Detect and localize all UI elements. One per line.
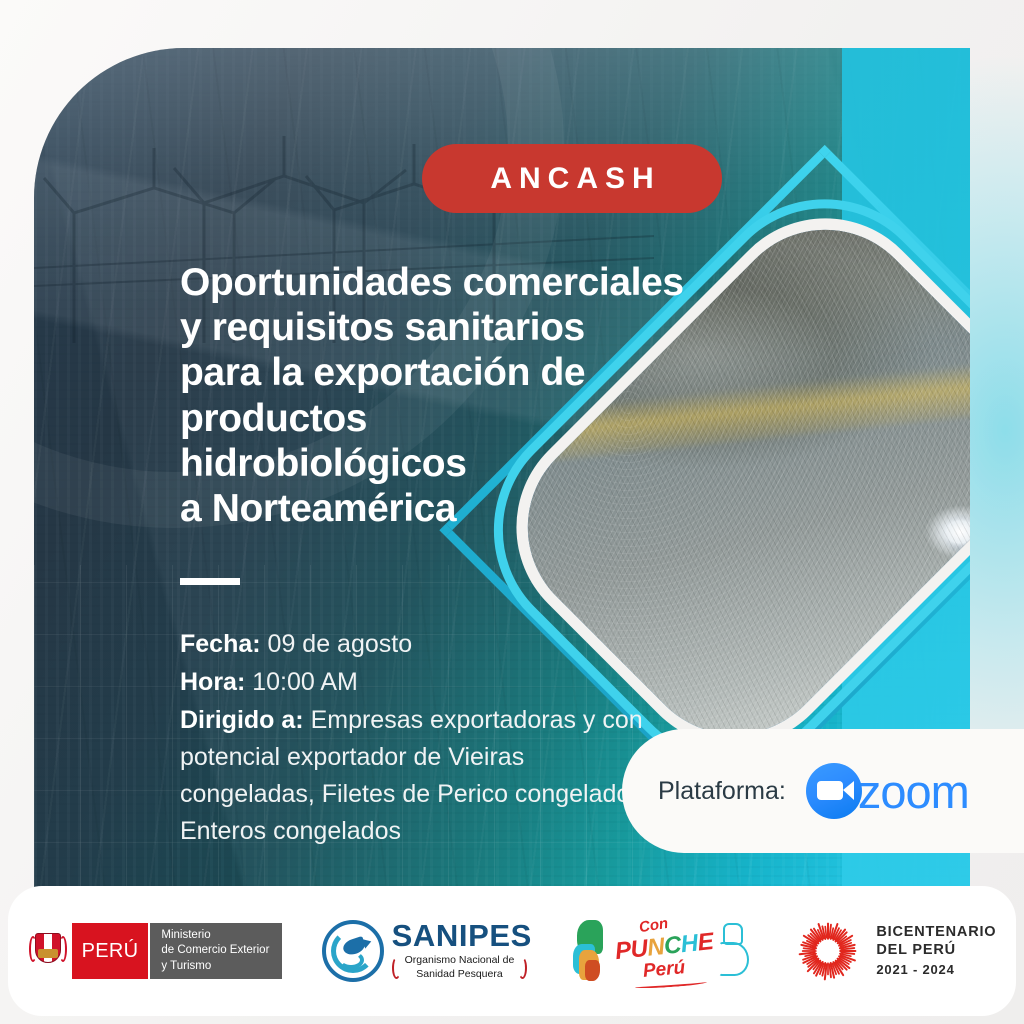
fecha-value: 09 de agosto	[268, 630, 413, 658]
title-divider	[180, 578, 240, 585]
detail-row-dirigido: Dirigido a: Empresas exportadoras y con …	[180, 702, 650, 850]
sanipes-arc-right-icon	[518, 957, 527, 979]
zoom-camera-body	[817, 781, 843, 800]
platform-label: Plataforma:	[658, 777, 786, 806]
detail-row-fecha: Fecha: 09 de agosto	[180, 626, 650, 663]
zoom-logo: zoom	[806, 763, 969, 819]
bicentenario-line2: DEL PERÚ	[876, 942, 996, 960]
zoom-wordmark: zoom	[858, 764, 969, 819]
punche-peru-label: Perú	[642, 957, 686, 983]
sanipes-acronym: SANIPES	[392, 920, 532, 951]
fecha-label: Fecha:	[180, 630, 261, 658]
region-badge: ANCASH	[422, 144, 722, 213]
event-details: Fecha: 09 de agosto Hora: 10:00 AM Dirig…	[180, 626, 650, 851]
bicentenario-line1: BICENTENARIO	[876, 924, 996, 942]
bicentenario-years: 2021 - 2024	[876, 962, 996, 978]
zoom-camera-icon	[806, 763, 862, 819]
flexed-arm-icon	[717, 923, 753, 979]
logo-mincetur: PERÚ Ministerio de Comercio Exterior y T…	[28, 923, 283, 979]
hora-label: Hora:	[180, 668, 245, 696]
footer-logo-bar: PERÚ Ministerio de Comercio Exterior y T…	[8, 886, 1016, 1016]
sanipes-arc-left-icon	[392, 957, 401, 979]
hora-value: 10:00 AM	[252, 668, 358, 696]
bicentenario-sunburst-icon	[792, 915, 864, 987]
logo-bicentenario: BICENTENARIO DEL PERÚ 2021 - 2024	[792, 915, 996, 987]
peru-label: PERÚ	[72, 923, 149, 979]
logo-con-punche-peru: Con PUNCHE Perú	[571, 915, 753, 987]
zoom-camera-lens	[843, 781, 854, 800]
dirigido-label: Dirigido a:	[180, 706, 304, 734]
platform-card: Plataforma: zoom	[622, 729, 1024, 853]
logo-sanipes: SANIPES Organismo Nacional de Sanidad Pe…	[322, 920, 532, 982]
sanipes-fish-emblem-icon	[322, 920, 384, 982]
peru-map-icon	[571, 920, 611, 982]
mincetur-ministry-label: Ministerio de Comercio Exterior y Turism…	[148, 923, 282, 979]
detail-row-hora: Hora: 10:00 AM	[180, 664, 650, 701]
page-title: Oportunidades comerciales y requisitos s…	[180, 260, 740, 531]
region-badge-label: ANCASH	[483, 162, 660, 196]
peru-coat-of-arms-icon	[28, 925, 68, 977]
sanipes-subtitle: Organismo Nacional de Sanidad Pesquera	[401, 954, 519, 981]
